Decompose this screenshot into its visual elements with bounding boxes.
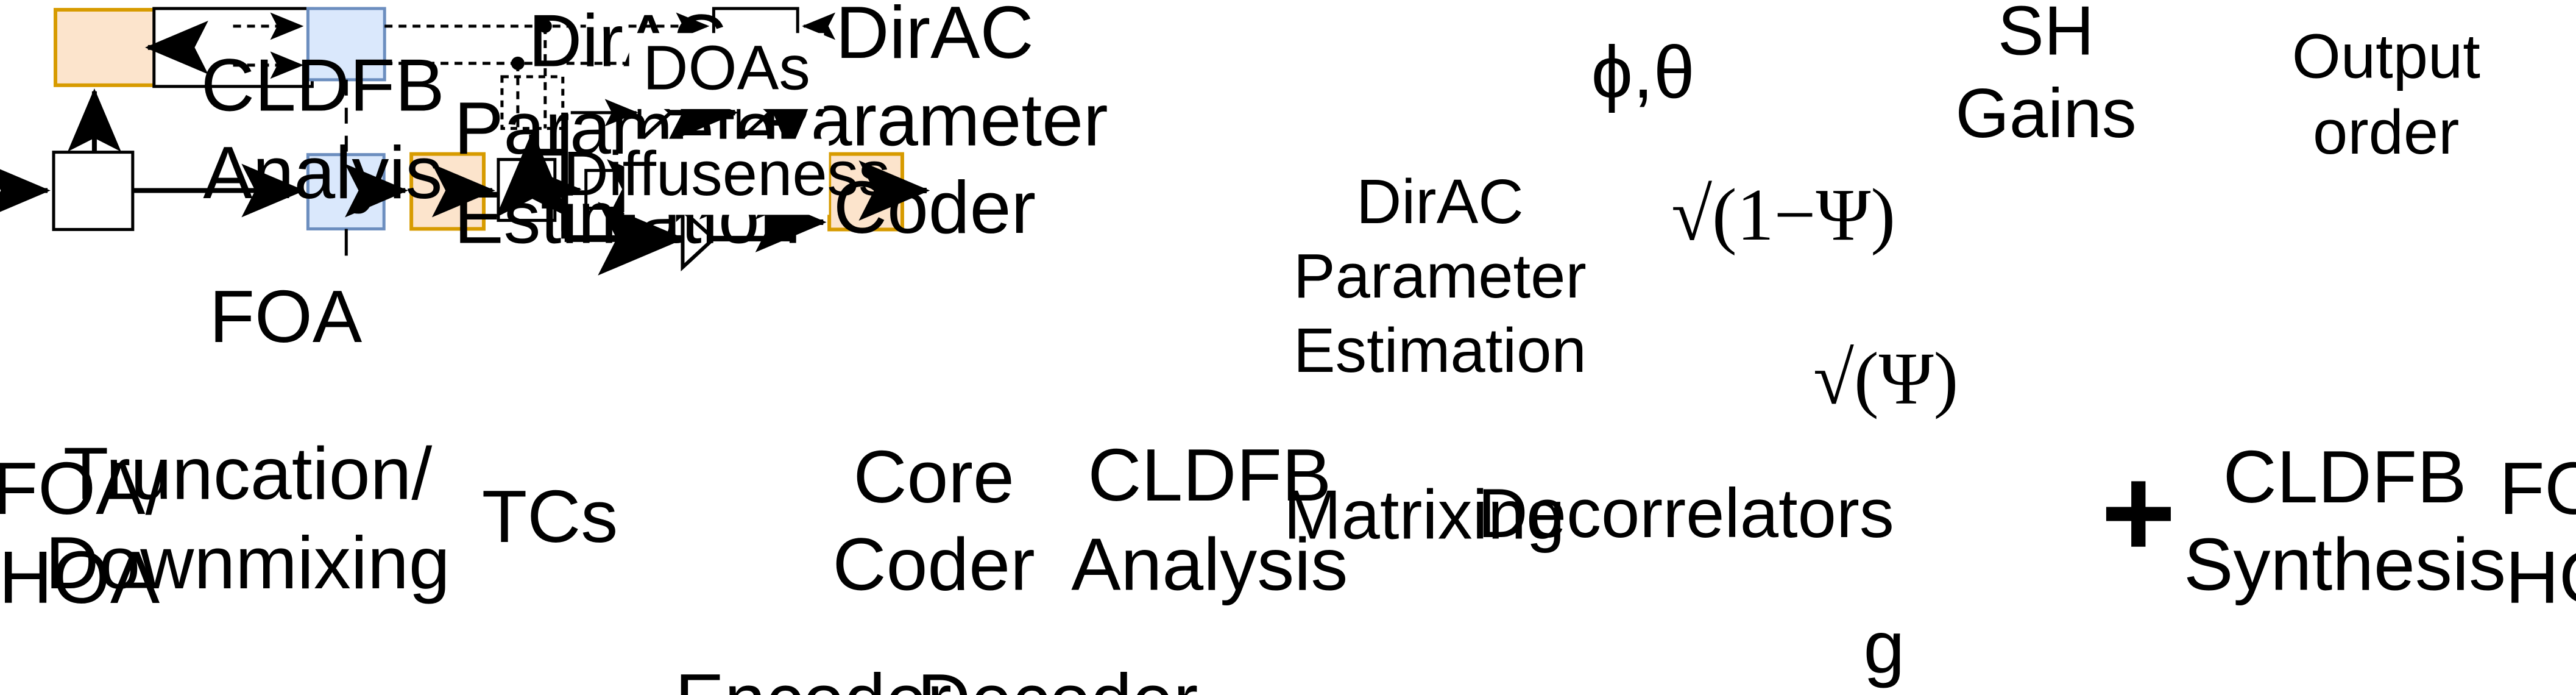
- edge-label-sqrt-1-minus-psi: √(1−Ψ): [1668, 172, 1898, 258]
- diagram-vector-layer: [0, 0, 2576, 694]
- edge-label-sqrt-psi: √(Ψ): [1800, 335, 1972, 421]
- edge-label-phi-theta: ϕ,θ: [1577, 30, 1709, 116]
- sum-node-label: +: [2089, 461, 2188, 566]
- edge-label-tcs: TCs: [470, 477, 629, 557]
- block-core-coder: [308, 155, 384, 229]
- io-label-input-foa-hoa: FOA/ HOA: [3, 459, 155, 608]
- edge-label-diffuseness: Diffuseness: [624, 139, 829, 215]
- block-dirac-parameter-estimation-2: [502, 77, 563, 129]
- block-cldfb-analysis-2: [411, 154, 484, 229]
- edge-label-output-order: Output order: [2246, 23, 2527, 172]
- edge-label-doas: DOAs: [629, 33, 824, 109]
- gain-label-g: g: [1849, 607, 1919, 690]
- block-matrixing: [498, 160, 555, 221]
- edge-label-foa: FOA: [195, 277, 377, 357]
- io-label-output-foa-hoa: FOA/ HOA: [2510, 459, 2576, 608]
- block-dirac-parameter-coder: [308, 9, 384, 80]
- block-truncation-downmixing: [54, 152, 133, 230]
- triangle-gain-g: [682, 210, 713, 267]
- partition-label-encoder: Encoder: [702, 661, 925, 695]
- block-diagram-canvas: CLDFB Analyis DirAC Parameter Estimation…: [0, 0, 2576, 695]
- partition-label-decoder: Decoder: [946, 661, 1169, 695]
